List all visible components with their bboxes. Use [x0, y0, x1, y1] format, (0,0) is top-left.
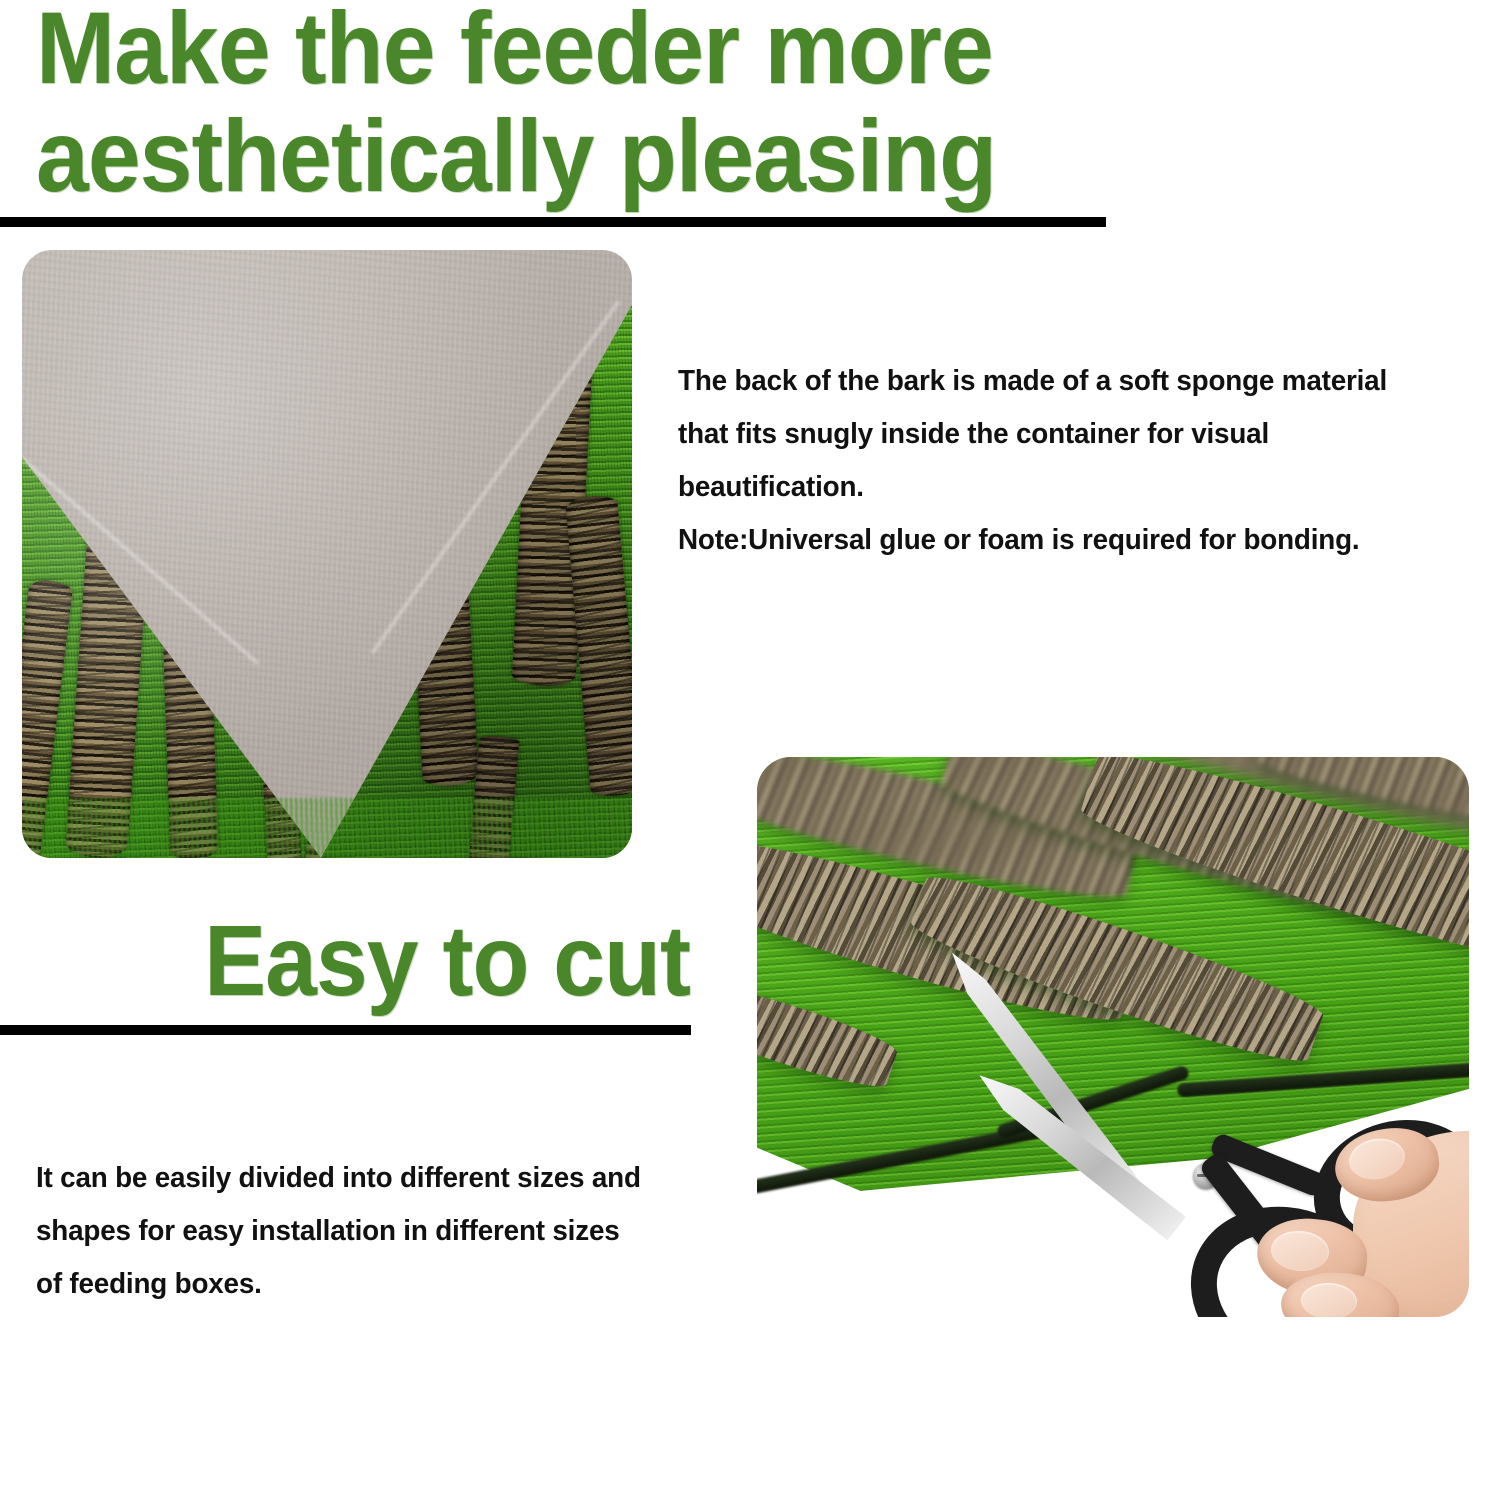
- photo-sponge-backing: [22, 250, 632, 858]
- moss-fuzzy-edge: [22, 798, 632, 858]
- description-easy-to-cut: It can be easily divided into different …: [36, 1152, 727, 1311]
- photo-cutting-demo: [757, 757, 1469, 1317]
- title-divider-top: [0, 217, 1106, 227]
- page-title-aesthetics: Make the feeder more aesthetically pleas…: [36, 0, 1022, 210]
- page-title-easy-to-cut: Easy to cut: [48, 908, 690, 1014]
- description-sponge-backing: The back of the bark is made of a soft s…: [678, 355, 1475, 567]
- title-divider-bottom: [0, 1025, 691, 1035]
